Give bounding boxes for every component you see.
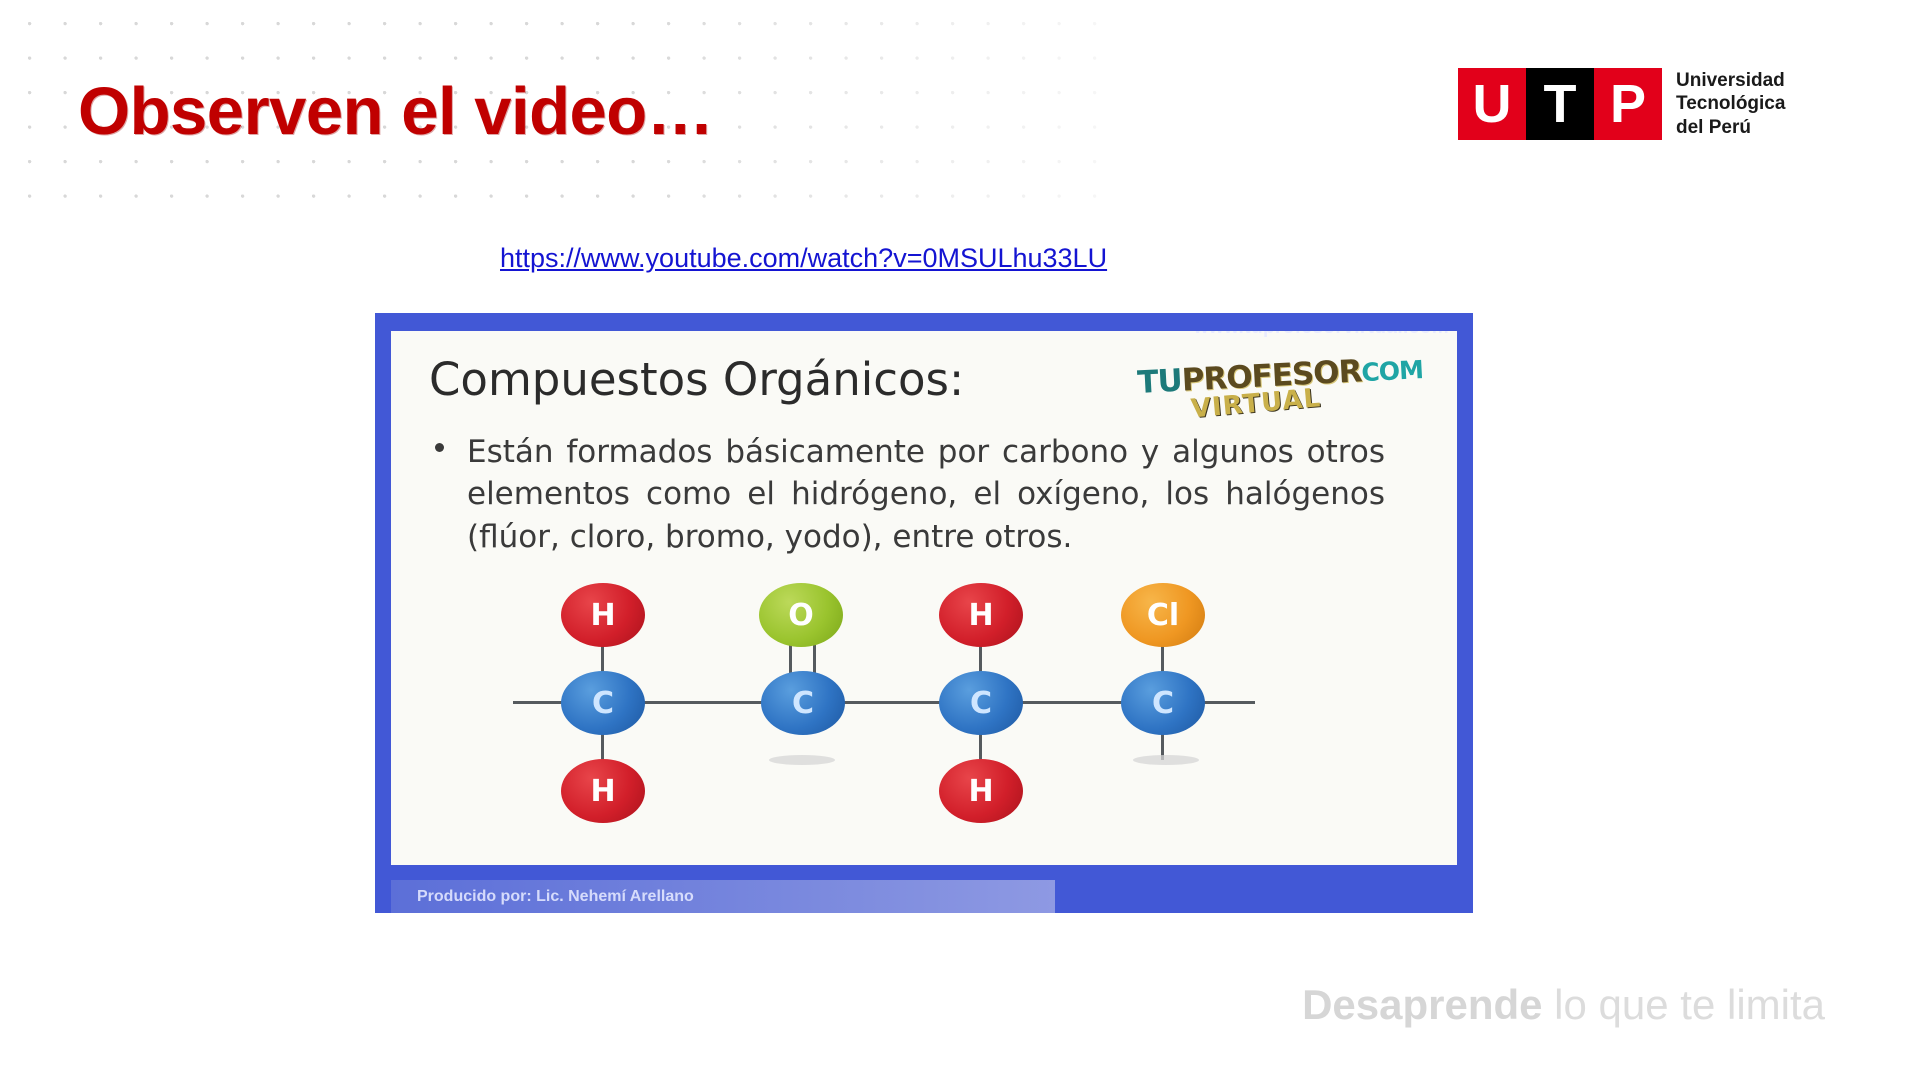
shadow-under-c2 xyxy=(769,755,835,765)
bullet-point-icon xyxy=(435,443,444,452)
video-slide-content: www.tuprofesorvirtual.com Compuestos Org… xyxy=(391,331,1457,865)
youtube-video-link[interactable]: https://www.youtube.com/watch?v=0MSULhu3… xyxy=(500,243,1107,274)
utp-wordmark-line-3: del Perú xyxy=(1676,116,1785,139)
brand-tagline: Desaprende lo que te limita xyxy=(1302,984,1825,1026)
utp-logo-letter-u: U xyxy=(1458,68,1526,140)
utp-wordmark-line-2: Tecnológica xyxy=(1676,92,1785,115)
tpv-logo-tu: TU xyxy=(1137,363,1183,401)
video-bullet-paragraph: Están formados básicamente por carbono y… xyxy=(435,431,1385,558)
atom-h-top-1: H xyxy=(561,583,645,647)
atom-o-top: O xyxy=(759,583,843,647)
atom-h-top-2: H xyxy=(939,583,1023,647)
page-title: Observen el video… xyxy=(78,78,713,145)
molecule-diagram: H O H Cl C C C C H H xyxy=(461,573,1321,838)
utp-logo-blocks: U T P xyxy=(1458,68,1662,140)
shadow-under-c4 xyxy=(1133,755,1199,765)
tpv-logo-com: COM xyxy=(1361,355,1424,387)
tuprofesorvirtual-logo: TUPROFESORCOM VIRTUAL xyxy=(1137,349,1445,427)
tagline-bold-word: Desaprende xyxy=(1302,981,1542,1028)
atom-cl-top: Cl xyxy=(1121,583,1205,647)
video-bullet-text: Están formados básicamente por carbono y… xyxy=(467,431,1385,558)
slide-canvas: Observen el video… U T P Universidad Tec… xyxy=(0,0,1920,1080)
atom-c-1: C xyxy=(561,671,645,735)
video-watermark-text: www.tuprofesorvirtual.com xyxy=(1194,331,1449,339)
video-slide-heading: Compuestos Orgánicos: xyxy=(429,353,964,406)
atom-c-2: C xyxy=(761,671,845,735)
utp-logo: U T P Universidad Tecnológica del Perú xyxy=(1458,68,1785,140)
atom-h-bottom-1: H xyxy=(561,759,645,823)
utp-logo-letter-t: T xyxy=(1526,68,1594,140)
video-thumbnail-frame[interactable]: www.tuprofesorvirtual.com Compuestos Org… xyxy=(375,313,1473,913)
video-producer-caption: Producido por: Lic. Nehemí Arellano xyxy=(417,888,694,906)
atom-c-3: C xyxy=(939,671,1023,735)
utp-logo-letter-p: P xyxy=(1594,68,1662,140)
tagline-rest: lo que te limita xyxy=(1543,981,1825,1028)
utp-wordmark-line-1: Universidad xyxy=(1676,69,1785,92)
atom-c-4: C xyxy=(1121,671,1205,735)
utp-logo-wordmark: Universidad Tecnológica del Perú xyxy=(1676,69,1785,139)
video-footer-bar: Producido por: Lic. Nehemí Arellano xyxy=(391,880,1055,913)
atom-h-bottom-2: H xyxy=(939,759,1023,823)
